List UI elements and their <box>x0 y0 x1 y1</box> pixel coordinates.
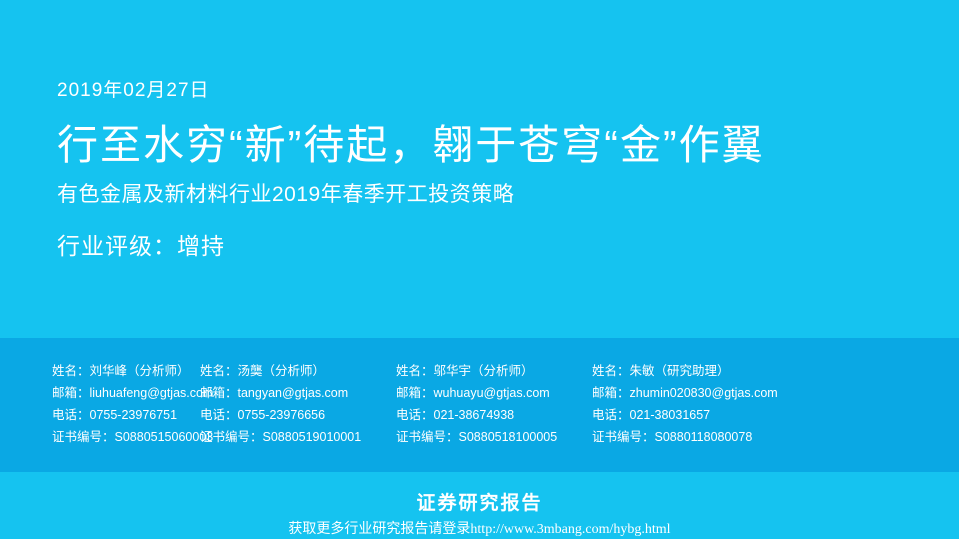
contact-cert: 证书编号：S0880118080078 <box>592 426 892 448</box>
contact-email: 邮箱：zhumin020830@gtjas.com <box>592 382 892 404</box>
contact-cert: 证书编号：S0880515060003 <box>52 426 200 448</box>
contact-cert: 证书编号：S0880518100005 <box>396 426 592 448</box>
contacts-list: 姓名：刘华峰（分析师） 邮箱：liuhuafeng@gtjas.com 电话：0… <box>0 338 959 472</box>
contact-phone: 电话：0755-23976751 <box>52 404 200 426</box>
contact-phone: 电话：0755-23976656 <box>200 404 396 426</box>
contact-email: 邮箱：wuhuayu@gtjas.com <box>396 382 592 404</box>
contact-cert: 证书编号：S0880519010001 <box>200 426 396 448</box>
contact-name: 姓名：邬华宇（分析师） <box>396 360 592 382</box>
contact-email: 邮箱：liuhuafeng@gtjas.com <box>52 382 200 404</box>
contact-card: 姓名：朱敏（研究助理） 邮箱：zhumin020830@gtjas.com 电话… <box>592 360 892 472</box>
industry-rating: 行业评级：增持 <box>57 230 917 262</box>
contact-name: 姓名：汤龑（分析师） <box>200 360 396 382</box>
page-title: 行至水穷“新”待起，翱于苍穹“金”作翼 <box>57 120 917 170</box>
presentation-slide: 2019年02月27日 行至水穷“新”待起，翱于苍穹“金”作翼 有色金属及新材料… <box>0 0 959 539</box>
contact-card: 姓名：汤龑（分析师） 邮箱：tangyan@gtjas.com 电话：0755-… <box>200 360 396 472</box>
title-block: 2019年02月27日 行至水穷“新”待起，翱于苍穹“金”作翼 有色金属及新材料… <box>57 78 917 262</box>
contact-name: 姓名：朱敏（研究助理） <box>592 360 892 382</box>
contact-email: 邮箱：tangyan@gtjas.com <box>200 382 396 404</box>
contact-phone: 电话：021-38674938 <box>396 404 592 426</box>
contact-name: 姓名：刘华峰（分析师） <box>52 360 200 382</box>
page-subtitle: 有色金属及新材料行业2019年春季开工投资策略 <box>57 180 917 210</box>
report-type-label: 证券研究报告 <box>0 488 959 515</box>
report-date: 2019年02月27日 <box>57 78 917 104</box>
footer-source-link: 获取更多行业研究报告请登录http://www.3mbang.com/hybg.… <box>0 518 959 538</box>
contact-phone: 电话：021-38031657 <box>592 404 892 426</box>
contact-card: 姓名：刘华峰（分析师） 邮箱：liuhuafeng@gtjas.com 电话：0… <box>0 360 200 472</box>
contact-card: 姓名：邬华宇（分析师） 邮箱：wuhuayu@gtjas.com 电话：021-… <box>396 360 592 472</box>
